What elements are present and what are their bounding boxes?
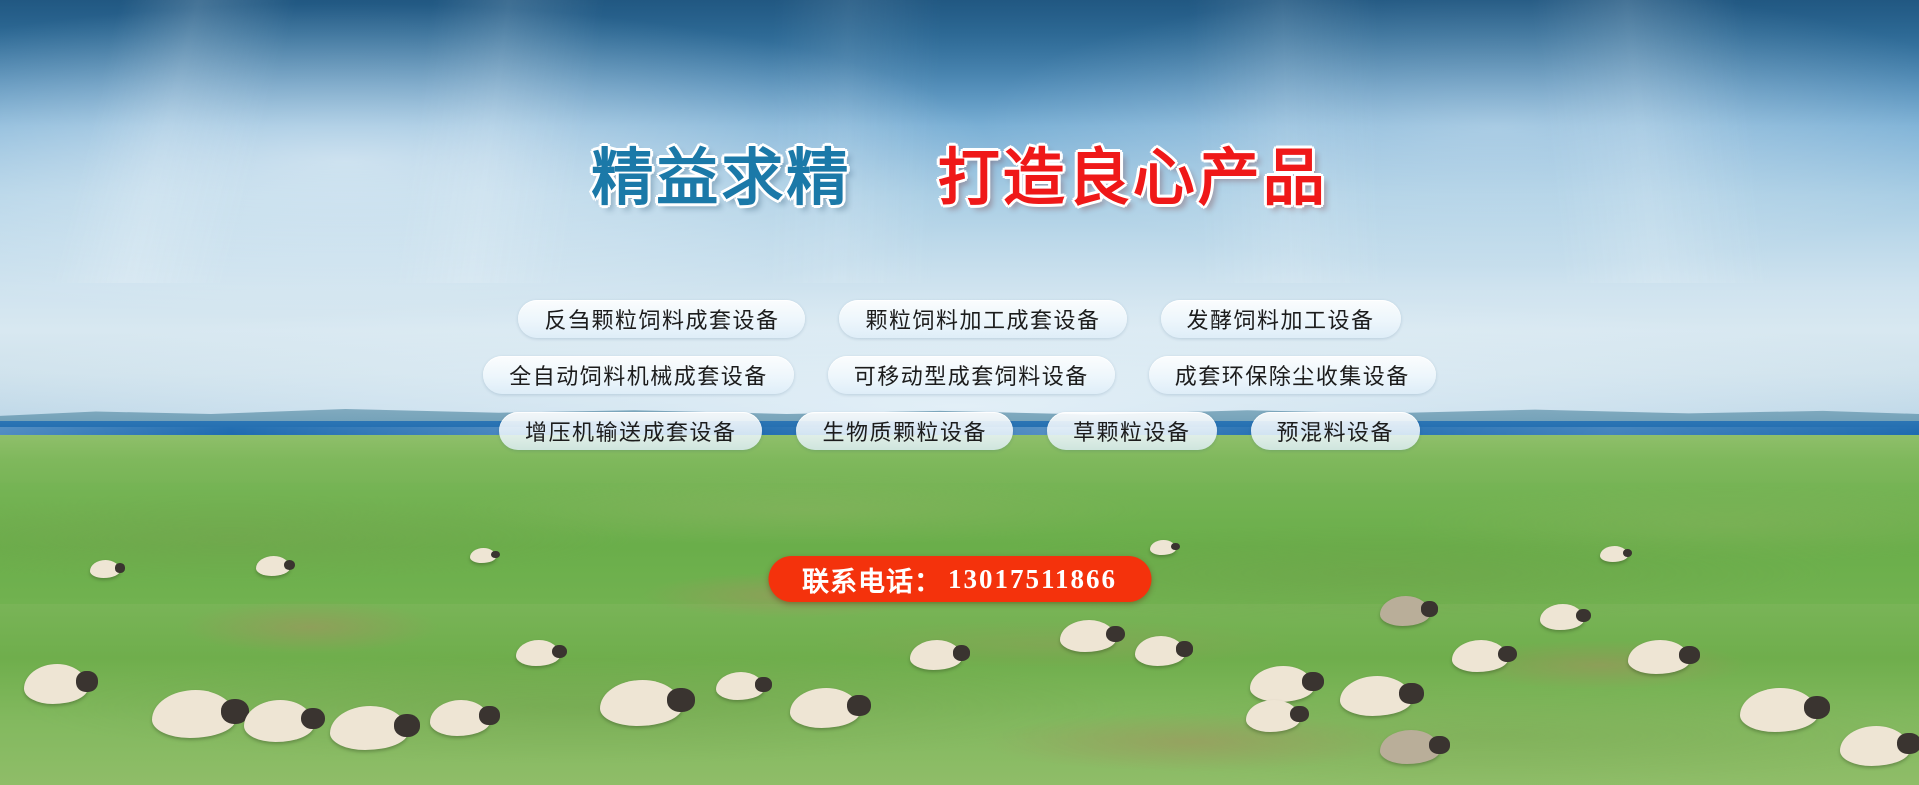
sheep [1246, 700, 1300, 732]
pill-fermented-feed-processing-equipment[interactable]: 发酵饲料加工设备 [1161, 300, 1401, 338]
sheep [600, 680, 682, 726]
sheep [1380, 596, 1430, 626]
sheep [1628, 640, 1690, 674]
sheep [1452, 640, 1508, 672]
pill-grass-pellet-equipment[interactable]: 草颗粒设备 [1047, 412, 1217, 450]
contact-phone-badge[interactable]: 联系电话： 13017511866 [768, 556, 1151, 602]
sheep [790, 688, 860, 728]
sheep [1250, 666, 1314, 702]
sheep [330, 706, 408, 750]
sheep [1150, 540, 1176, 555]
pill-row-3: 增压机输送成套设备 生物质颗粒设备 草颗粒设备 预混料设备 [0, 412, 1919, 450]
pill-row-2: 全自动饲料机械成套设备 可移动型成套饲料设备 成套环保除尘收集设备 [0, 356, 1919, 394]
sheep [244, 700, 314, 742]
pill-pellet-feed-processing-complete-equipment[interactable]: 颗粒饲料加工成套设备 [839, 300, 1126, 338]
pill-biomass-pellet-equipment[interactable]: 生物质颗粒设备 [796, 412, 1013, 450]
headline-blue-text: 精益求精 [591, 148, 851, 210]
sheep [1600, 546, 1628, 562]
cloud-streaks [0, 0, 1919, 283]
pill-premix-equipment[interactable]: 预混料设备 [1251, 412, 1421, 450]
sheep [1380, 730, 1440, 764]
pill-fully-automatic-feed-machinery-complete-equipment[interactable]: 全自动饲料机械成套设备 [483, 356, 794, 394]
contact-phone-label: 联系电话： [802, 560, 942, 599]
product-category-pills: 反刍颗粒饲料成套设备 颗粒饲料加工成套设备 发酵饲料加工设备 全自动饲料机械成套… [0, 300, 1919, 468]
sheep [1060, 620, 1116, 652]
sheep [256, 556, 290, 576]
sheep [470, 548, 496, 563]
sheep [90, 560, 120, 578]
hero-banner: 精益求精 打造良心产品 反刍颗粒饲料成套设备 颗粒饲料加工成套设备 发酵饲料加工… [0, 0, 1919, 785]
pill-ruminant-pellet-feed-complete-equipment[interactable]: 反刍颗粒饲料成套设备 [518, 300, 805, 338]
pill-complete-environmental-dust-collection-equipment[interactable]: 成套环保除尘收集设备 [1149, 356, 1436, 394]
sheep [1740, 688, 1818, 732]
pill-row-1: 反刍颗粒饲料成套设备 颗粒饲料加工成套设备 发酵饲料加工设备 [0, 300, 1919, 338]
sheep [716, 672, 764, 700]
sheep [1135, 636, 1185, 666]
sheep [152, 690, 236, 738]
headline-red-text: 打造良心产品 [938, 148, 1328, 210]
sheep [1540, 604, 1584, 630]
sheep [1340, 676, 1412, 716]
contact-phone-number: 13017511866 [948, 564, 1117, 595]
sheep [1840, 726, 1910, 766]
pill-mobile-complete-feed-equipment[interactable]: 可移动型成套饲料设备 [828, 356, 1115, 394]
page-title: 精益求精 打造良心产品 [0, 148, 1919, 210]
pill-booster-conveying-complete-equipment[interactable]: 增压机输送成套设备 [499, 412, 763, 450]
sheep [24, 664, 88, 704]
sheep [910, 640, 962, 670]
sheep [516, 640, 560, 666]
sheep [430, 700, 490, 736]
